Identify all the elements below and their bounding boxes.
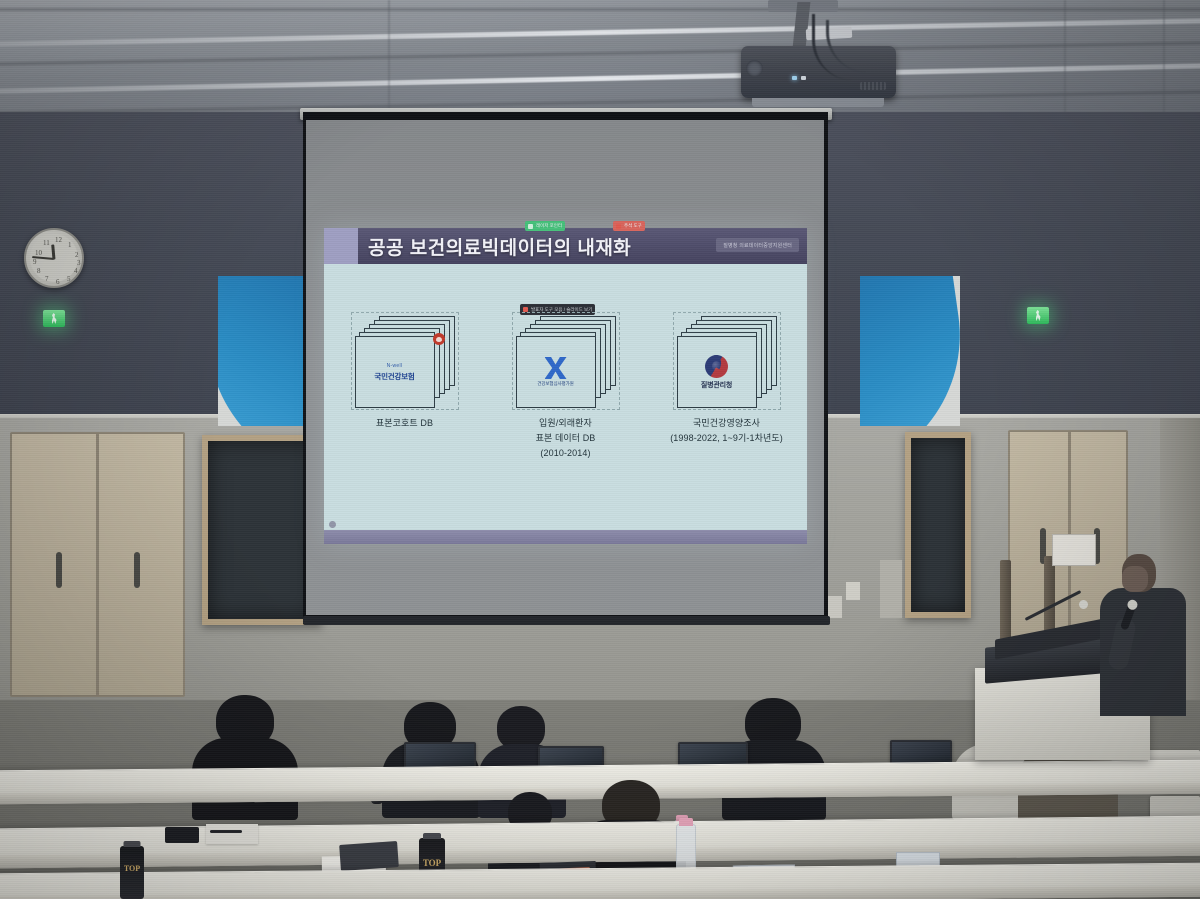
hira-logo-icon — [545, 357, 567, 379]
slide-footer-bar — [324, 530, 807, 544]
wall-outlet — [826, 596, 842, 618]
exit-sign-right — [1027, 307, 1049, 324]
db-front-card: 질병관리청 — [677, 336, 757, 408]
db-stack: 질병관리청 — [673, 312, 781, 410]
nhis-logo-text: 국민건강보험 — [374, 371, 414, 382]
blue-banner-right — [860, 276, 960, 426]
db-item-health-nutrition-survey: 질병관리청 국민건강영양조사 (1998-2022, 1~9기-1차년도) — [652, 312, 802, 446]
chalkboard-right — [905, 432, 971, 618]
db-caption-line: 표본코호트 DB — [330, 416, 480, 431]
ceiling — [0, 0, 1200, 118]
annotate-icon — [616, 224, 621, 229]
hira-logo-text: 건강보험심사평가원 — [537, 381, 573, 387]
db-caption-line: 국민건강영양조사 — [652, 416, 802, 431]
slide-body: 발표자 도구 모음 / 슬라이드 보기 N-well 국민건강보험 — [324, 264, 807, 530]
db-stack: N-well 국민건강보험 — [351, 312, 459, 410]
coffee-can-top: TOP — [120, 846, 144, 899]
db-caption: 입원/외래환자 표본 데이터 DB (2010-2014) — [491, 416, 641, 461]
projected-slide: 공공 보건의료빅데이터의 내재화 질병청 의료데이터중앙지원센터 레이저 포인터… — [324, 228, 807, 544]
slide-title-bar: 공공 보건의료빅데이터의 내재화 질병청 의료데이터중앙지원센터 — [324, 228, 807, 264]
slide-title: 공공 보건의료빅데이터의 내재화 — [368, 233, 631, 260]
smartphone[interactable] — [165, 827, 199, 843]
kdca-taegeuk-icon — [705, 355, 728, 378]
db-item-inpatient-outpatient: 건강보험심사평가원 입원/외래환자 표본 데이터 DB (2010-2014) — [491, 312, 641, 461]
gooseneck-mic-head — [1079, 600, 1088, 609]
db-caption: 국민건강영양조사 (1998-2022, 1~9기-1차년도) — [652, 416, 802, 446]
wall-notice — [1052, 534, 1096, 566]
nhis-heart-icon — [433, 333, 445, 345]
db-caption-line: 표본 데이터 DB — [491, 431, 641, 446]
db-caption: 표본코호트 DB — [330, 416, 480, 431]
db-stack: 건강보험심사평가원 — [512, 312, 620, 410]
kdca-logo-text: 질병관리청 — [701, 380, 732, 390]
entrance-door-left[interactable] — [10, 432, 185, 697]
db-caption-line: 입원/외래환자 — [491, 416, 641, 431]
database-stack-row: N-well 국민건강보험 표본코호트 DB — [324, 312, 807, 461]
notebook — [206, 824, 258, 844]
db-item-sample-cohort: N-well 국민건강보험 표본코호트 DB — [330, 312, 480, 431]
exit-sign-left — [43, 310, 65, 327]
blue-banner-left — [218, 276, 314, 426]
lecture-hall-photo: 12 1 2 3 4 5 6 7 8 9 10 11 — [0, 0, 1200, 899]
slide-bullet-dot — [329, 521, 336, 528]
db-front-card: 건강보험심사평가원 — [516, 336, 596, 408]
presenter-toolbar-annotate-label: 주석 도구 — [624, 223, 642, 229]
screen-bottom-bar — [303, 616, 830, 625]
presenter-toolbar-laser-label: 레이저 포인터 — [536, 223, 562, 229]
db-caption-line: (1998-2022, 1~9기-1차년도) — [652, 431, 802, 446]
nhis-logo: N-well — [387, 363, 403, 369]
db-caption-line: (2010-2014) — [491, 446, 641, 461]
wall-clock: 12 1 2 3 4 5 6 7 8 9 10 11 — [24, 228, 84, 288]
laser-icon — [528, 224, 533, 229]
presenter-toolbar-laser[interactable]: 레이저 포인터 — [525, 221, 565, 231]
wall-post-a — [1000, 560, 1011, 646]
presenter-toolbar-annotate[interactable]: 주석 도구 — [613, 221, 645, 231]
projector-lens — [746, 60, 763, 77]
slide-corner-badge: 질병청 의료데이터중앙지원센터 — [716, 238, 799, 252]
db-front-card: N-well 국민건강보험 — [355, 336, 435, 408]
slide-title-accent-block — [324, 228, 358, 264]
wall-switch — [846, 582, 860, 600]
pen — [210, 830, 242, 833]
wall-box — [880, 560, 902, 618]
tablet-device[interactable] — [339, 841, 399, 871]
